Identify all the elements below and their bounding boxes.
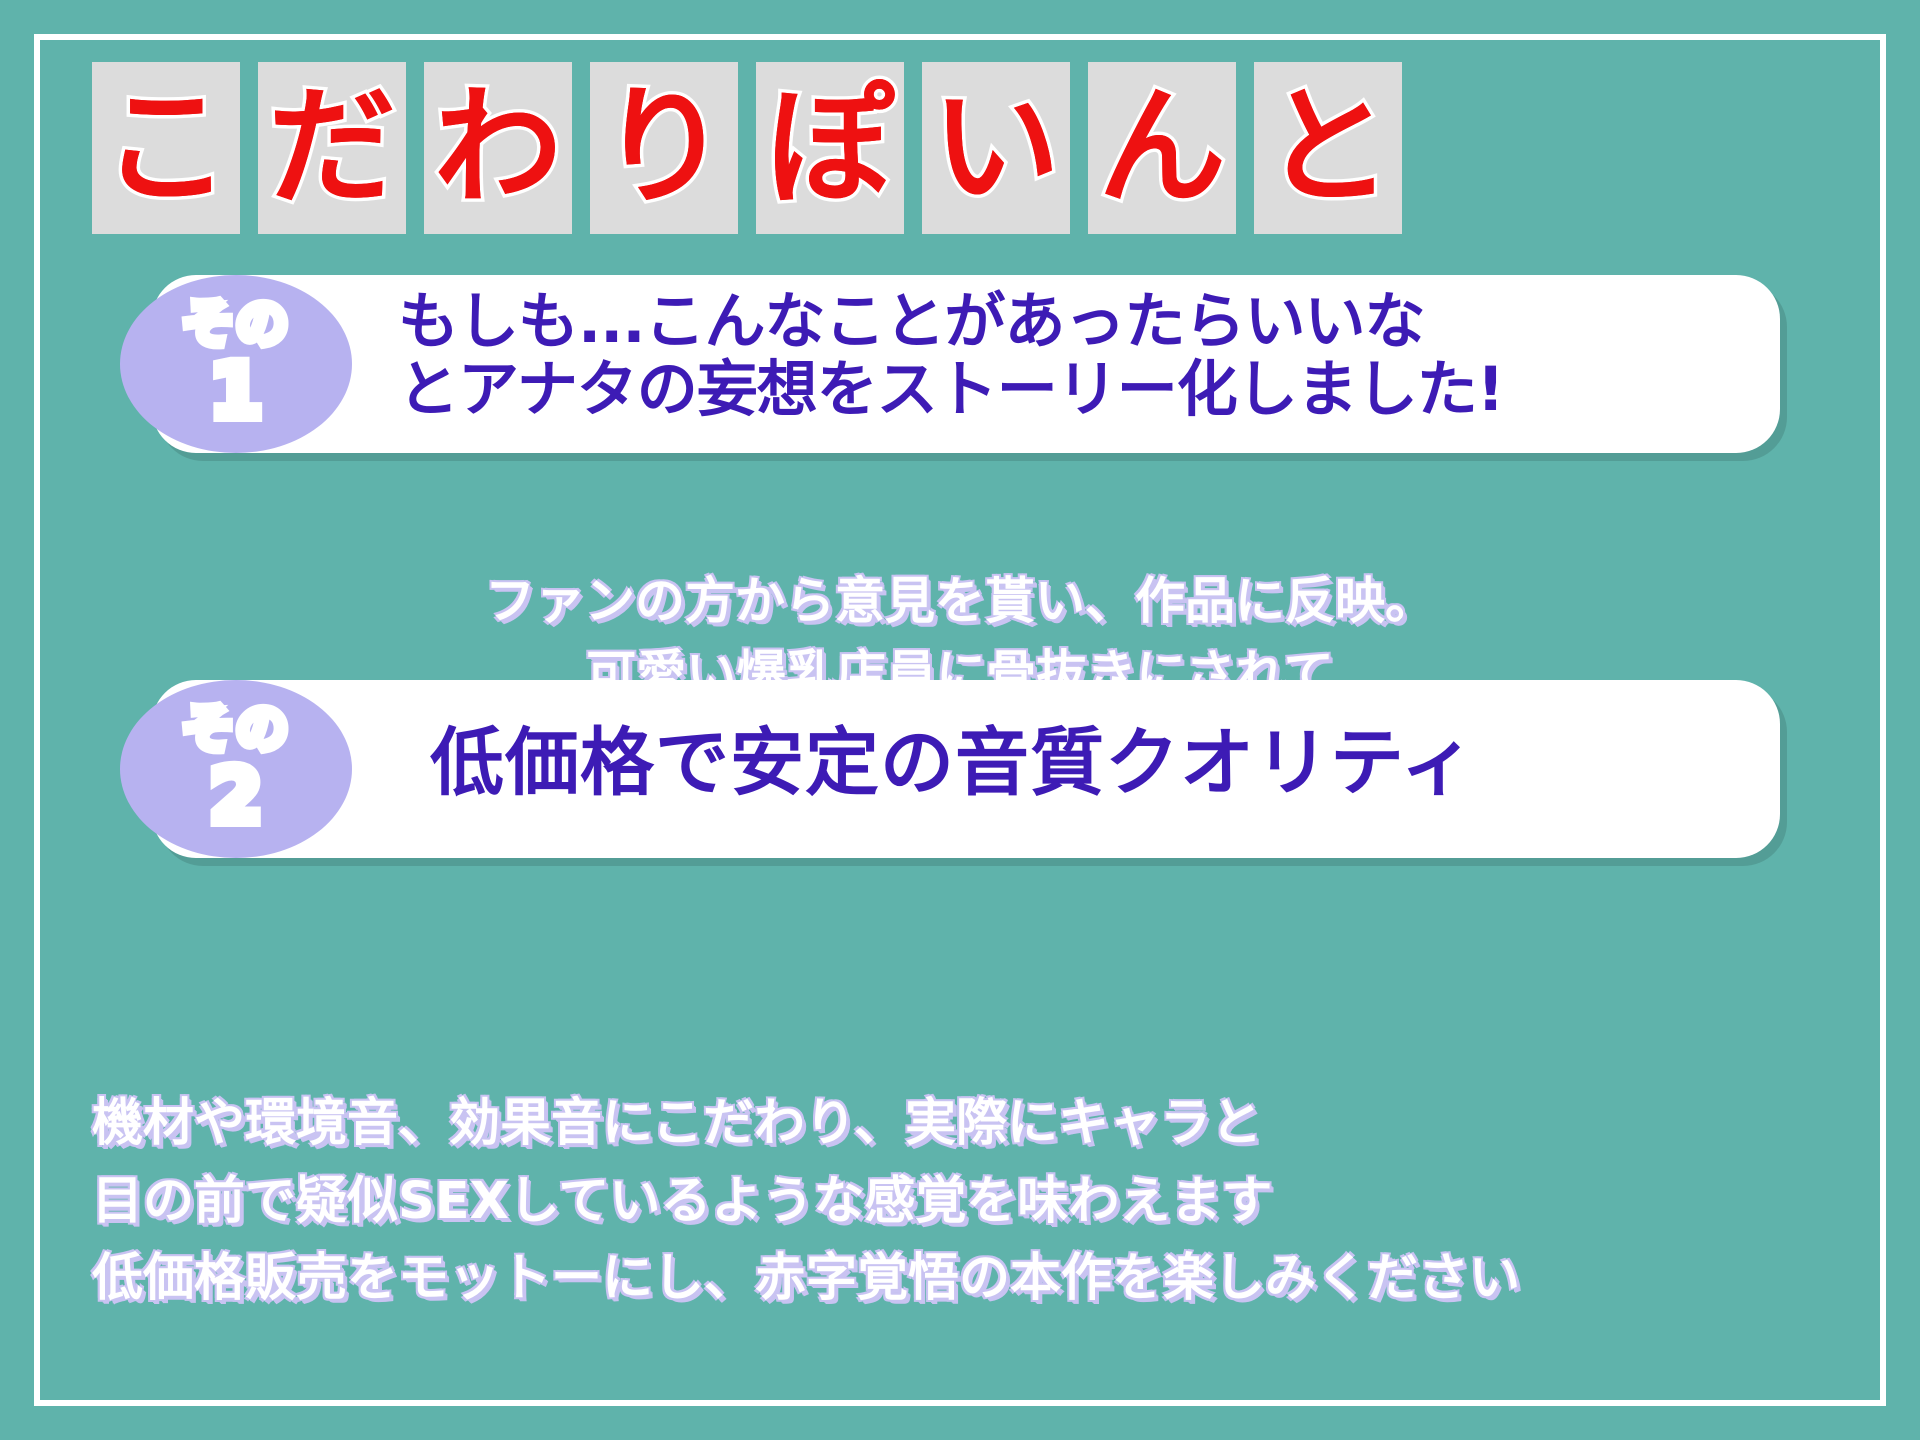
section-2-body-text: 機材や環境音、効果音にこだわり、実際にキャラと 目の前で疑似SEXしているような… xyxy=(92,1085,1852,1318)
title-char: と xyxy=(1254,62,1402,234)
title-char: り xyxy=(590,62,738,234)
page-title: こ だ わ り ぽ い ん と xyxy=(92,62,1402,234)
section-1-heading-text: もしも...こんなことがあったらいいな とアナタの妄想をストーリー化しました! xyxy=(398,288,1758,425)
section-1-badge-label: その xyxy=(182,299,290,351)
title-char: い xyxy=(922,62,1070,234)
title-char: だ xyxy=(258,62,406,234)
section-2-heading-text: 低価格で安定の音質クオリティ xyxy=(430,722,1750,805)
section-1-badge-number: 1 xyxy=(210,353,263,429)
section-2-badge: その 2 xyxy=(120,680,352,858)
title-char: わ xyxy=(424,62,572,234)
section-2-badge-number: 2 xyxy=(210,758,263,834)
title-char: ん xyxy=(1088,62,1236,234)
title-char: こ xyxy=(92,62,240,234)
promo-page: こ だ わ り ぽ い ん と その 1 もしも...こんなことがあったらいいな… xyxy=(0,0,1920,1440)
title-char: ぽ xyxy=(756,62,904,234)
section-1-badge: その 1 xyxy=(120,275,352,453)
section-2-badge-label: その xyxy=(182,704,290,756)
